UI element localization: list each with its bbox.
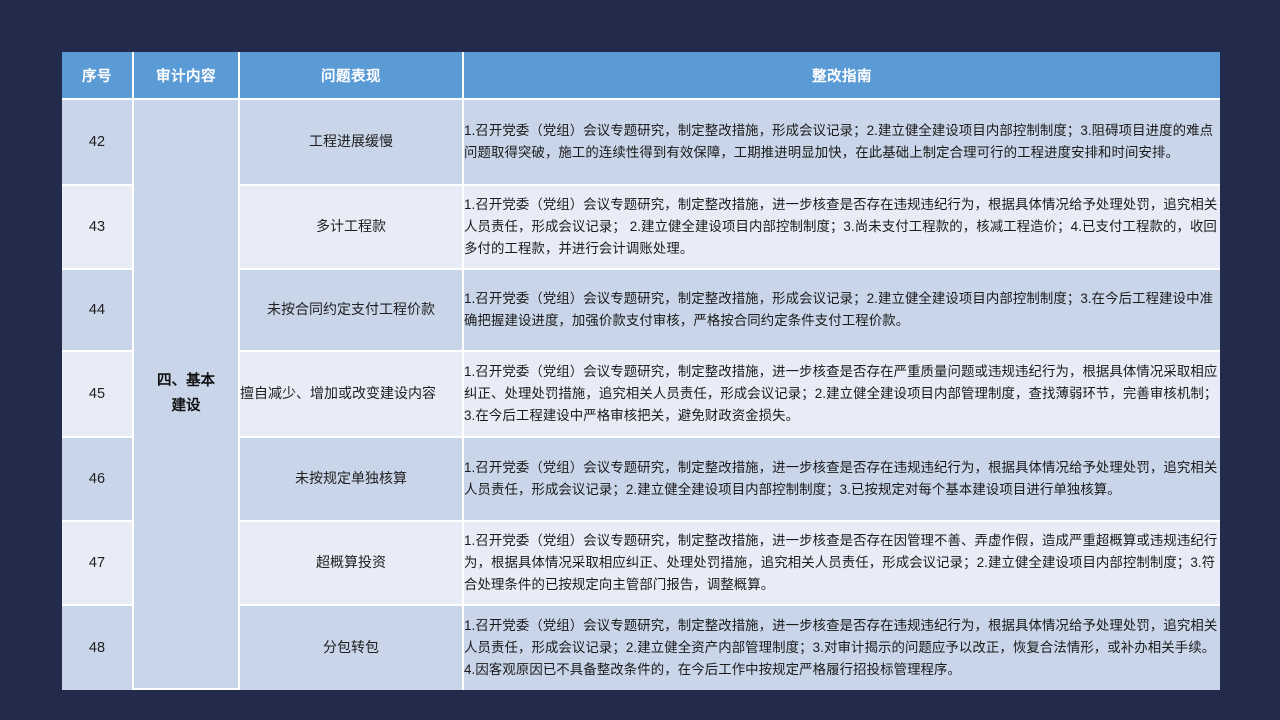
table-row: 42 四、基本 建设 工程进展缓慢 1.召开党委（党组）会议专题研究，制定整改措… [62,100,1220,186]
cell-problem: 分包转包 [240,606,464,690]
cell-problem: 未按规定单独核算 [240,438,464,522]
table-header: 序号 审计内容 问题表现 整改指南 [62,52,1220,100]
cell-problem: 超概算投资 [240,522,464,606]
table-header-row: 序号 审计内容 问题表现 整改指南 [62,52,1220,100]
audit-remediation-table: 序号 审计内容 问题表现 整改指南 42 四、基本 建设 工程进展缓慢 1.召开… [62,52,1220,690]
slide-canvas: 序号 审计内容 问题表现 整改指南 42 四、基本 建设 工程进展缓慢 1.召开… [0,0,1280,720]
cell-guide: 1.召开党委（党组）会议专题研究，制定整改措施，形成会议记录；2.建立健全建设项… [464,270,1220,352]
column-header-problem: 问题表现 [240,52,464,100]
cell-guide: 1.召开党委（党组）会议专题研究，制定整改措施，进一步核查是否存在严重质量问题或… [464,352,1220,438]
audit-category-line2: 建设 [134,394,238,419]
table-body: 42 四、基本 建设 工程进展缓慢 1.召开党委（党组）会议专题研究，制定整改措… [62,100,1220,690]
column-header-audit-content: 审计内容 [134,52,240,100]
cell-problem: 擅自减少、增加或改变建设内容 [240,352,464,438]
cell-problem: 工程进展缓慢 [240,100,464,186]
column-header-seq: 序号 [62,52,134,100]
cell-problem: 未按合同约定支付工程价款 [240,270,464,352]
cell-audit-category: 四、基本 建设 [134,100,240,690]
cell-guide: 1.召开党委（党组）会议专题研究，制定整改措施，进一步核查是否存在违规违纪行为，… [464,438,1220,522]
cell-seq: 45 [62,352,134,438]
cell-seq: 44 [62,270,134,352]
cell-seq: 46 [62,438,134,522]
cell-seq: 43 [62,186,134,270]
cell-guide: 1.召开党委（党组）会议专题研究，制定整改措施，形成会议记录；2.建立健全建设项… [464,100,1220,186]
cell-seq: 42 [62,100,134,186]
cell-problem: 多计工程款 [240,186,464,270]
cell-guide: 1.召开党委（党组）会议专题研究，制定整改措施，进一步核查是否存在违规违纪行为，… [464,186,1220,270]
audit-category-line1: 四、基本 [134,369,238,394]
audit-table-container: 序号 审计内容 问题表现 整改指南 42 四、基本 建设 工程进展缓慢 1.召开… [62,52,1220,690]
cell-guide: 1.召开党委（党组）会议专题研究，制定整改措施，进一步核查是否存在因管理不善、弄… [464,522,1220,606]
column-header-guide: 整改指南 [464,52,1220,100]
cell-seq: 47 [62,522,134,606]
cell-guide: 1.召开党委（党组）会议专题研究，制定整改措施，进一步核查是否存在违规违纪行为，… [464,606,1220,690]
cell-seq: 48 [62,606,134,690]
